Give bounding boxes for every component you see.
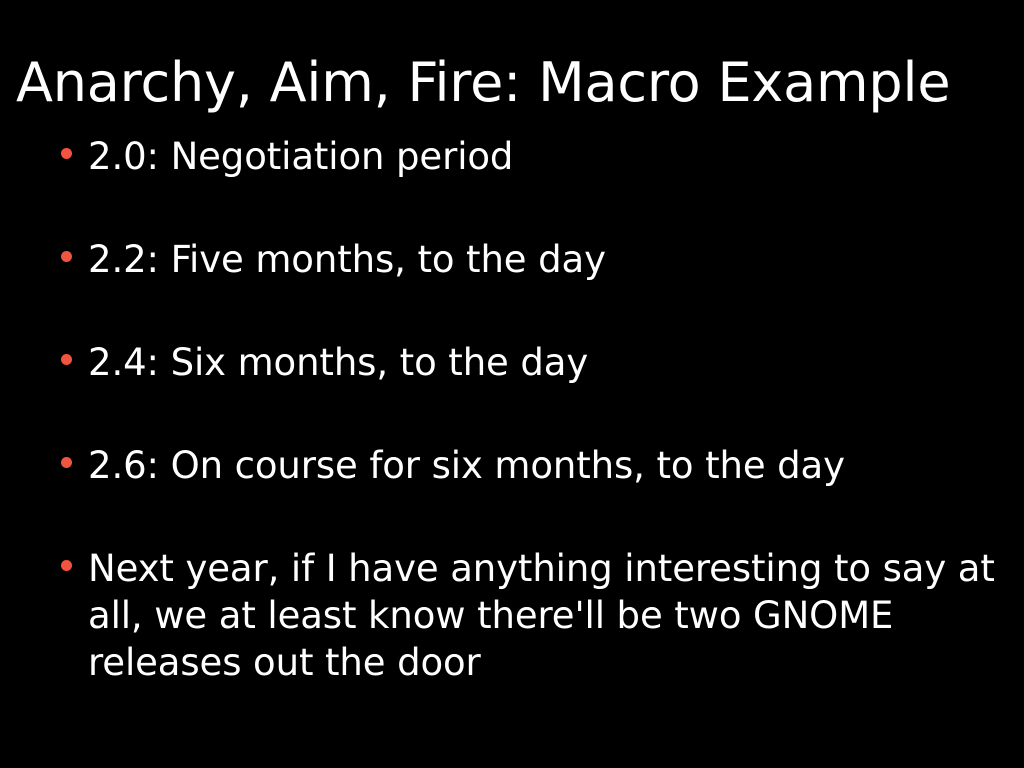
round-bullet-icon [61,148,72,159]
list-item-label: Next year, if I have anything interestin… [88,545,1000,686]
round-bullet-icon [61,457,72,468]
list-item-label: 2.2: Five months, to the day [88,236,1001,283]
round-bullet-icon [61,251,72,262]
list-item: 2.0: Negotiation period [56,133,1001,180]
list-item-label: 2.0: Negotiation period [88,133,1001,180]
list-item: 2.4: Six months, to the day [56,339,1001,386]
page-title: Anarchy, Aim, Fire: Macro Example [16,52,1008,114]
list-item: 2.2: Five months, to the day [56,236,1001,283]
round-bullet-icon [61,560,72,571]
list-item-label: 2.6: On course for six months, to the da… [88,442,1001,489]
bullet-list: 2.0: Negotiation period 2.2: Five months… [56,133,1001,686]
presentation-slide: Anarchy, Aim, Fire: Macro Example 2.0: N… [0,0,1024,768]
list-item: 2.6: On course for six months, to the da… [56,442,1001,489]
list-item-label: 2.4: Six months, to the day [88,339,1001,386]
list-item: Next year, if I have anything interestin… [56,545,1001,686]
round-bullet-icon [61,354,72,365]
